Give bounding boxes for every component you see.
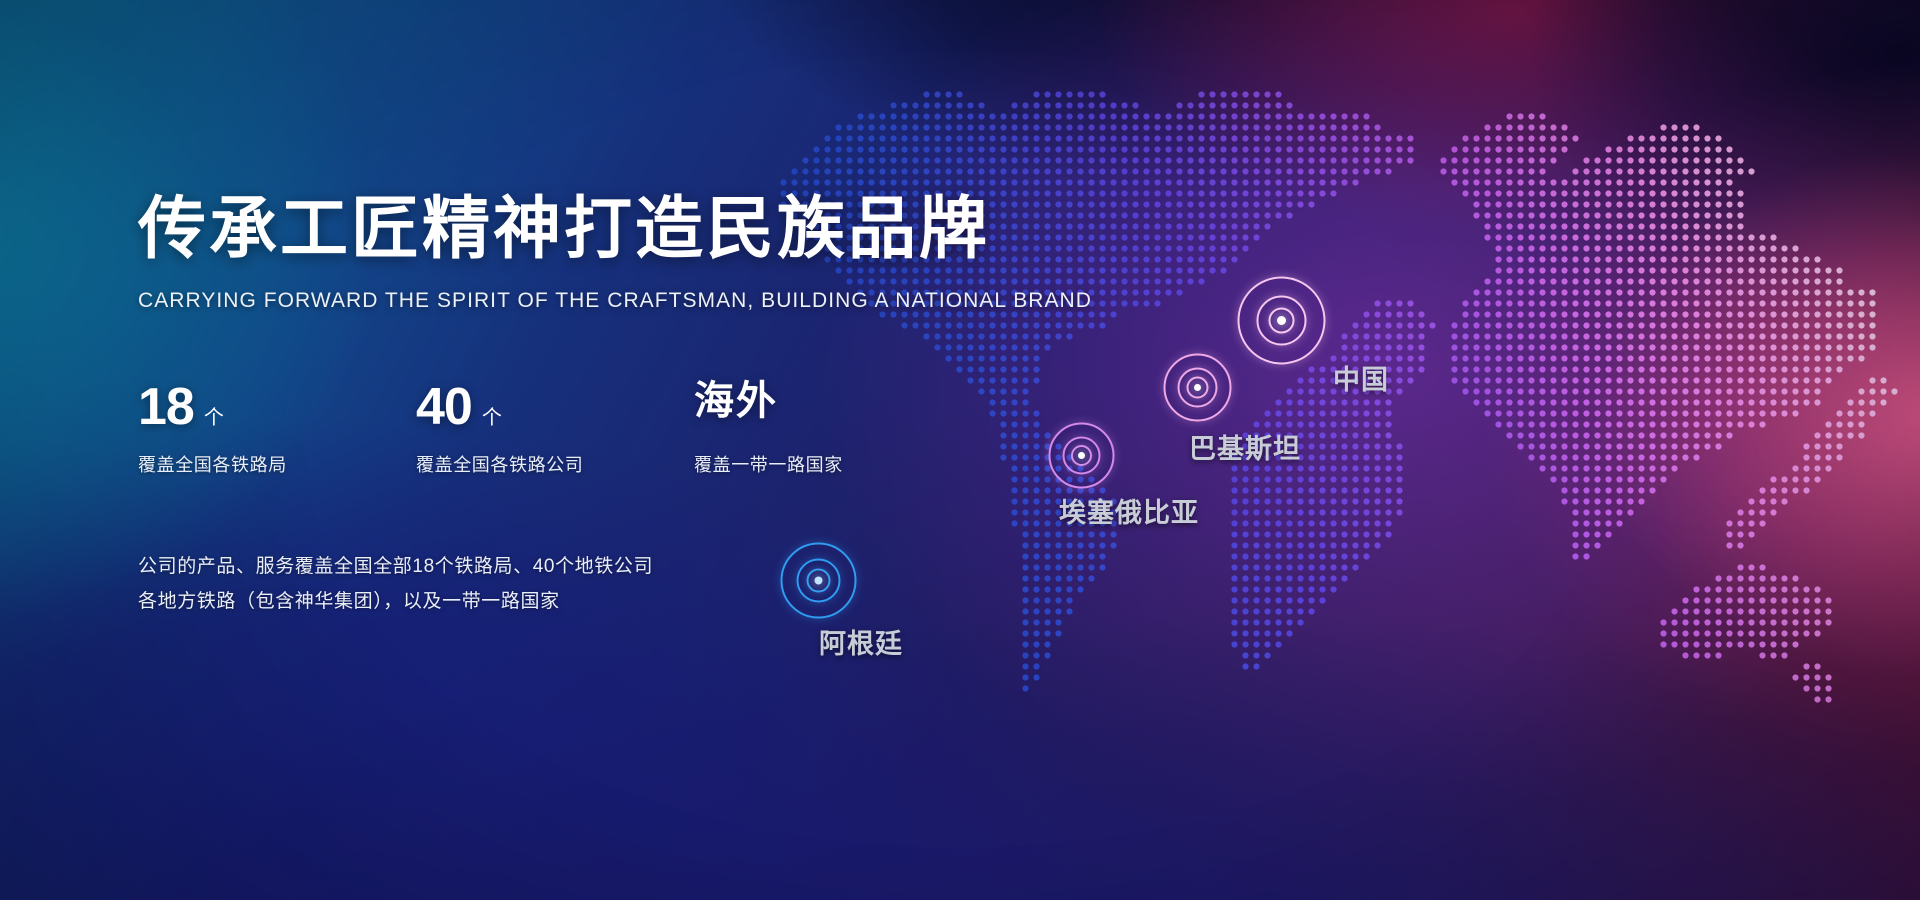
paragraph-line-2: 各地方铁路（包含神华集团），以及一带一路国家: [138, 584, 1058, 619]
paragraph-line-1: 公司的产品、服务覆盖全国全部18个铁路局、40个地铁公司: [138, 549, 1058, 584]
stats-row: 18 个 覆盖全国各铁路局 40 个 覆盖全国各铁路公司 海外 覆盖一带一路国家: [138, 381, 1058, 477]
stat-number: 18: [138, 381, 194, 433]
stat-number: 40: [416, 381, 472, 433]
stat-description: 覆盖一带一路国家: [694, 451, 843, 477]
page-subtitle: CARRYING FORWARD THE SPIRIT OF THE CRAFT…: [138, 289, 1058, 313]
stat-value-group: 海外: [694, 381, 843, 439]
stat-unit: 个: [204, 401, 224, 430]
stat-description: 覆盖全国各铁路公司: [416, 451, 694, 477]
stat-item-overseas: 海外 覆盖一带一路国家: [694, 381, 843, 477]
hero-content: 传承工匠精神打造民族品牌 CARRYING FORWARD THE SPIRIT…: [138, 196, 1058, 619]
stat-unit: 个: [482, 401, 502, 430]
stat-number: 海外: [694, 381, 778, 421]
stat-item-railway-bureaus: 18 个 覆盖全国各铁路局: [138, 381, 416, 477]
page-title: 传承工匠精神打造民族品牌: [138, 196, 1058, 264]
stat-item-railway-companies: 40 个 覆盖全国各铁路公司: [416, 381, 694, 477]
stat-description: 覆盖全国各铁路局: [138, 451, 416, 477]
description-paragraph: 公司的产品、服务覆盖全国全部18个铁路局、40个地铁公司 各地方铁路（包含神华集…: [138, 549, 1058, 619]
stat-value-group: 18 个: [138, 381, 416, 439]
hero-banner: 中国巴基斯坦埃塞俄比亚阿根廷 传承工匠精神打造民族品牌 CARRYING FOR…: [0, 0, 1920, 900]
stat-value-group: 40 个: [416, 381, 694, 439]
